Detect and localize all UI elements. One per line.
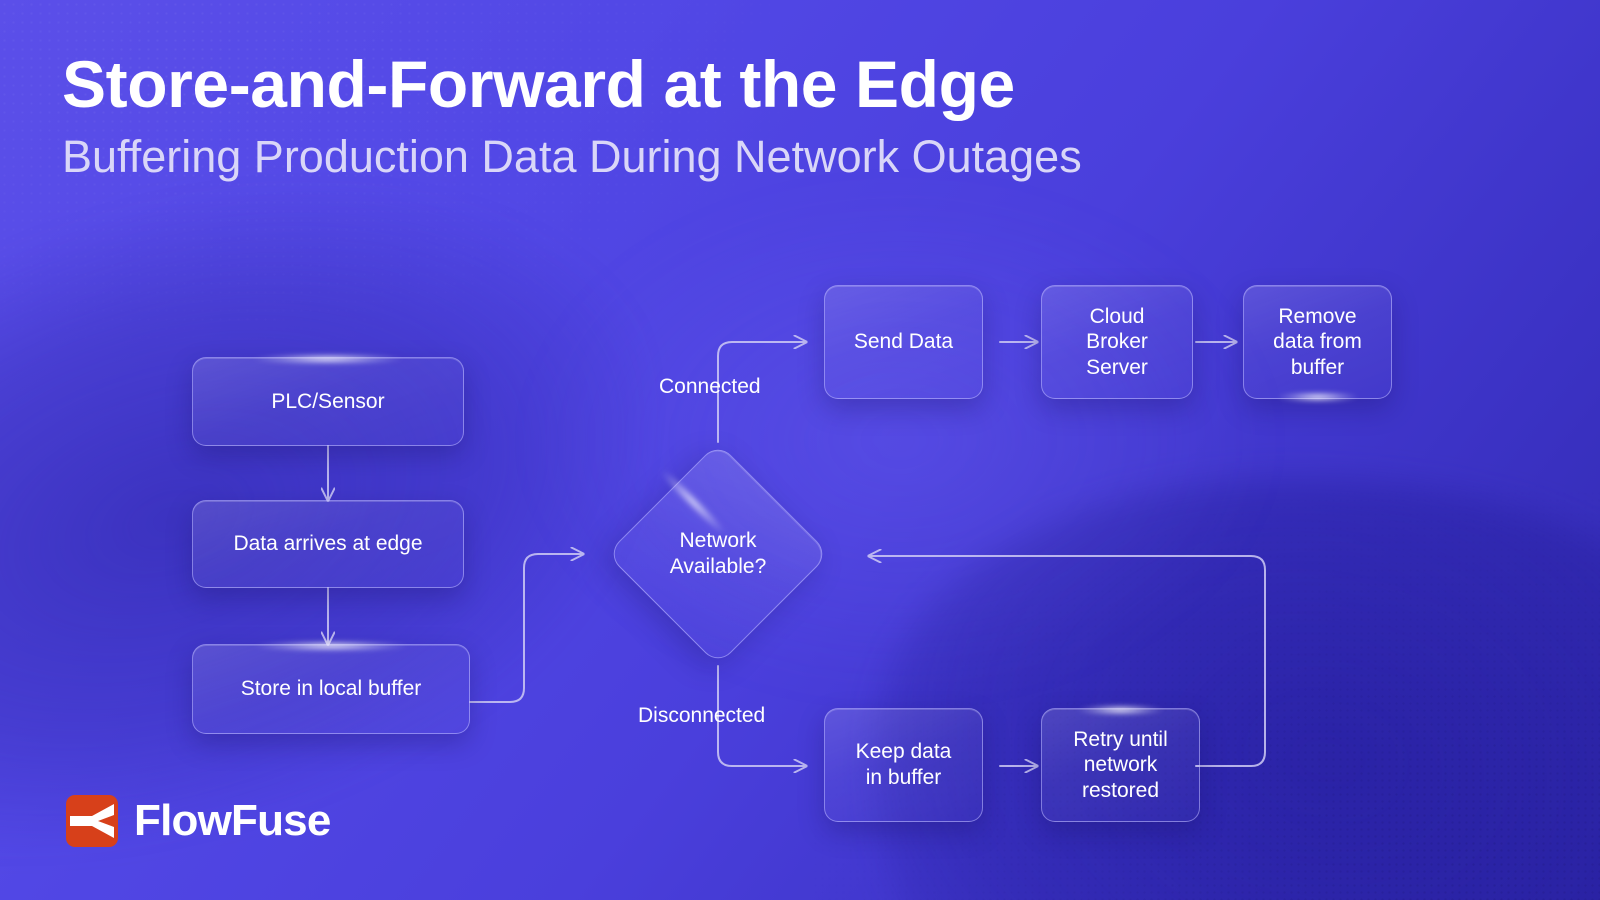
edge-label-connected: Connected [659,375,761,399]
infographic-canvas: Store-and-Forward at the Edge Buffering … [0,0,1600,900]
edge-store-to-decision [470,554,583,702]
node-store-buffer[interactable]: Store in local buffer [192,644,470,734]
node-send-data[interactable]: Send Data [824,285,983,399]
flowchart-connectors [0,0,1600,900]
flowfuse-logo-icon [66,795,118,847]
node-keep-data-line1: Keep data [856,739,952,765]
brand-name: FlowFuse [134,799,331,843]
node-send-data-label: Send Data [854,329,953,355]
edge-label-disconnected: Disconnected [638,704,765,728]
node-cloud-broker-line2: Broker [1086,329,1148,355]
node-network-check-line1: Network [679,528,756,554]
node-retry-network-line3: restored [1082,778,1159,804]
node-remove-data-line1: Remove [1278,304,1356,330]
node-retry-network-line1: Retry until [1073,727,1168,753]
brand-logo[interactable]: FlowFuse [66,795,331,847]
node-network-check-label: Network Available? [628,508,808,600]
node-retry-network-line2: network [1084,752,1158,778]
node-remove-data[interactable]: Remove data from buffer [1243,285,1392,399]
flowchart: PLC/Sensor Data arrives at edge Store in… [0,0,1600,900]
node-cloud-broker[interactable]: Cloud Broker Server [1041,285,1193,399]
node-cloud-broker-line1: Cloud [1090,304,1145,330]
node-keep-data-line2: in buffer [866,765,942,791]
node-remove-data-line3: buffer [1291,355,1344,381]
node-cloud-broker-line3: Server [1086,355,1148,381]
node-retry-network[interactable]: Retry until network restored [1041,708,1200,822]
node-network-check-line2: Available? [670,554,767,580]
node-keep-data[interactable]: Keep data in buffer [824,708,983,822]
node-store-buffer-label: Store in local buffer [241,676,422,702]
node-data-arrives-label: Data arrives at edge [233,531,422,557]
node-remove-data-line2: data from [1273,329,1362,355]
node-data-arrives[interactable]: Data arrives at edge [192,500,464,588]
node-plc-sensor[interactable]: PLC/Sensor [192,357,464,446]
node-plc-sensor-label: PLC/Sensor [271,389,384,415]
